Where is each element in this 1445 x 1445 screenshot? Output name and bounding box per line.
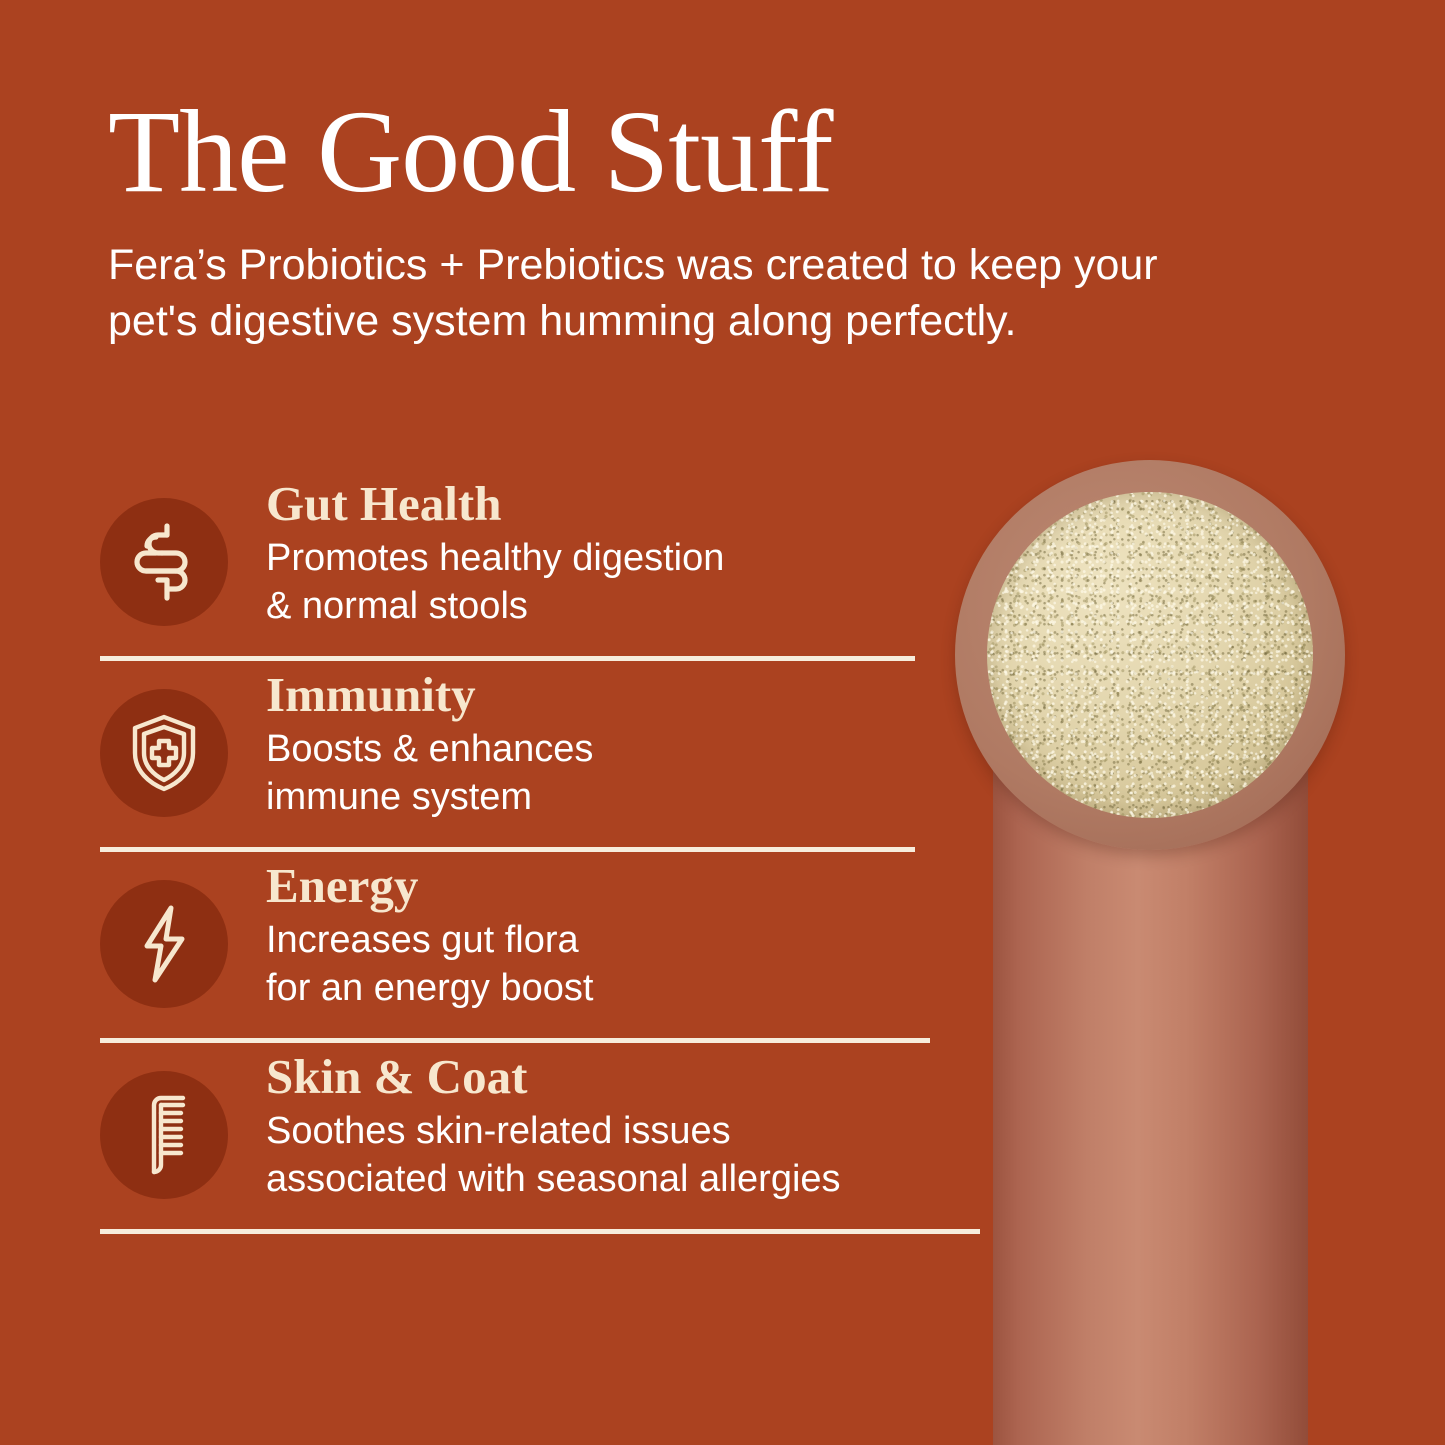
feature-description: Increases gut flora for an energy boost: [266, 917, 990, 1013]
feature-title: Immunity: [266, 669, 990, 722]
feature-text: Immunity Boosts & enhances immune system: [228, 661, 990, 822]
poster-canvas: The Good Stuff Fera’s Probiotics + Prebi…: [0, 0, 1445, 1445]
divider: [100, 1229, 980, 1234]
shield-cross-icon: [100, 689, 228, 817]
page-title: The Good Stuff: [108, 92, 1268, 212]
feature-text: Skin & Coat Soothes skin-related issues …: [228, 1043, 990, 1204]
feature-description: Boosts & enhances immune system: [266, 726, 990, 822]
feature-title: Gut Health: [266, 478, 990, 531]
feature-row: Skin & Coat Soothes skin-related issues …: [100, 1043, 990, 1229]
feature-row: Immunity Boosts & enhances immune system: [100, 661, 990, 847]
intestine-icon: [100, 498, 228, 626]
feature-description: Promotes healthy digestion & normal stoo…: [266, 535, 990, 631]
feature-description: Soothes skin-related issues associated w…: [266, 1108, 990, 1204]
header: The Good Stuff Fera’s Probiotics + Prebi…: [108, 92, 1268, 350]
comb-icon: [100, 1071, 228, 1199]
lightning-bolt-icon: [100, 880, 228, 1008]
feature-text: Gut Health Promotes healthy digestion & …: [228, 470, 990, 631]
feature-text: Energy Increases gut flora for an energy…: [228, 852, 990, 1013]
powder-fill: [987, 492, 1313, 818]
feature-row: Gut Health Promotes healthy digestion & …: [100, 470, 990, 656]
feature-title: Skin & Coat: [266, 1051, 990, 1104]
feature-row: Energy Increases gut flora for an energy…: [100, 852, 990, 1038]
product-image: [955, 460, 1345, 1445]
feature-list: Gut Health Promotes healthy digestion & …: [100, 470, 990, 1234]
jar-rim: [955, 460, 1345, 850]
page-subtitle: Fera’s Probiotics + Prebiotics was creat…: [108, 238, 1243, 350]
feature-title: Energy: [266, 860, 990, 913]
